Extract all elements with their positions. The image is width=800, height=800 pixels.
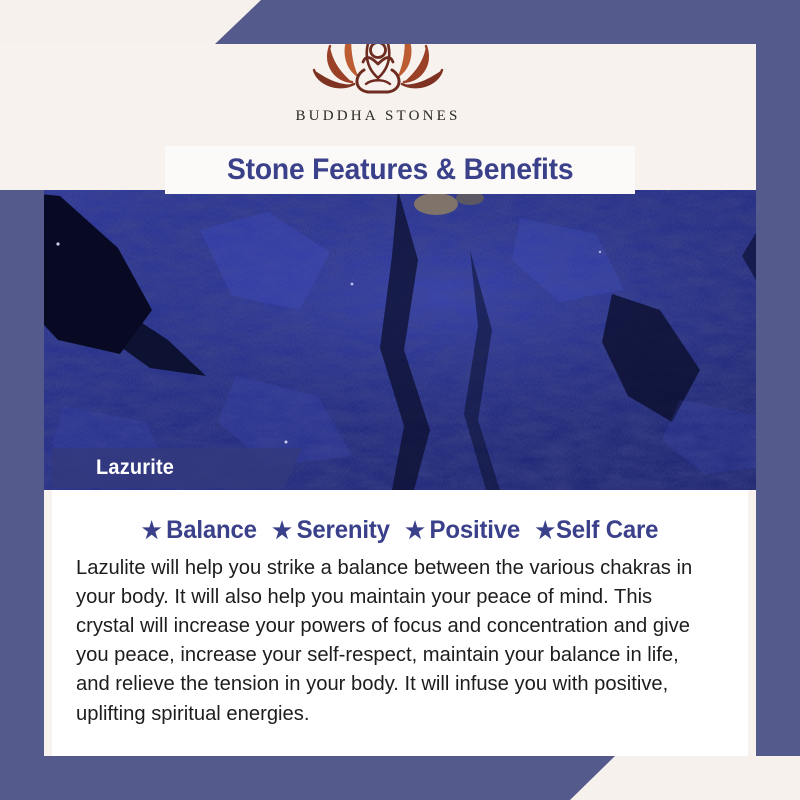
brand-name: BUDDHA STONES xyxy=(295,108,460,125)
lazurite-stone-photo xyxy=(0,190,800,490)
keyword-item-positive: ★Positive xyxy=(405,516,520,545)
keyword-item-self-care: ★Self Care xyxy=(535,516,658,545)
keyword-label: Serenity xyxy=(297,516,390,544)
frame-bottom-band xyxy=(0,756,615,800)
description-text: Lazulite will help you strike a balance … xyxy=(76,553,714,728)
stone-name-label: Lazurite xyxy=(52,448,302,488)
keyword-label: Balance xyxy=(166,516,257,544)
keyword-label: Self Care xyxy=(556,516,658,544)
star-icon: ★ xyxy=(535,517,555,543)
keyword-label: Positive xyxy=(430,516,521,544)
star-icon: ★ xyxy=(142,517,162,543)
page-title: Stone Features & Benefits xyxy=(227,153,573,187)
star-icon: ★ xyxy=(405,517,425,543)
stone-name-text: Lazurite xyxy=(96,456,174,480)
frame-right-band xyxy=(756,44,800,756)
frame-left-band xyxy=(0,190,44,756)
keyword-list: ★Balance ★Serenity ★Positive ★Self Care xyxy=(89,516,711,545)
frame-top-band xyxy=(215,0,800,44)
star-icon: ★ xyxy=(272,517,292,543)
title-band: Stone Features & Benefits xyxy=(165,146,635,194)
keyword-item-serenity: ★Serenity xyxy=(272,516,390,545)
keyword-item-balance: ★Balance xyxy=(142,516,257,545)
content-card: ★Balance ★Serenity ★Positive ★Self Care … xyxy=(52,490,748,756)
